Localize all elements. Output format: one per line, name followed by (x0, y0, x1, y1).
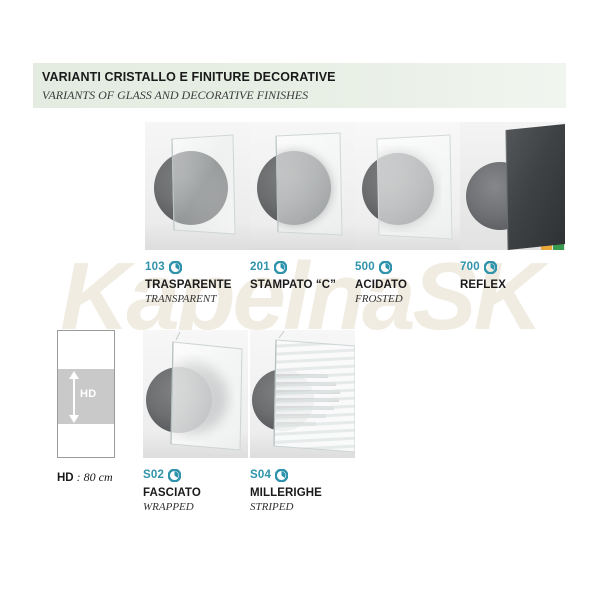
wrapped-glass-sample (143, 330, 248, 458)
frosted-glass-sample (355, 122, 460, 250)
glass-swatch-icon (274, 261, 287, 274)
transparent-glass-sample (145, 122, 250, 250)
finish-name-en: WRAPPED (143, 501, 248, 513)
finish-card-S02[interactable]: S02 FASCIATO WRAPPED (143, 330, 248, 513)
reflex-glass-sample (460, 122, 565, 250)
finish-code: 500 (355, 261, 375, 273)
finish-name-it: FASCIATO (143, 487, 248, 499)
finish-code-row: S04 (250, 467, 355, 483)
finish-name-it: TRASPARENTE (145, 279, 250, 291)
glass-swatch-icon (379, 261, 392, 274)
section-header-band: VARIANTI CRISTALLO E FINITURE DECORATIVE… (33, 63, 566, 108)
finish-code: 103 (145, 261, 165, 273)
finish-name-en: STRIPED (250, 501, 355, 513)
finish-card-500[interactable]: 500 ACIDATO FROSTED (355, 122, 460, 305)
finish-name-en: FROSTED (355, 293, 460, 305)
finish-card-700[interactable]: 700 REFLEX (460, 122, 565, 293)
finish-name-it: MILLERIGHE (250, 487, 355, 499)
glass-swatch-icon (168, 469, 181, 482)
finish-code-row: 201 (250, 259, 355, 275)
hd-caption-sep: : (74, 470, 84, 484)
finish-name-it: REFLEX (460, 279, 565, 291)
finish-code: S04 (250, 469, 271, 481)
printed-c-glass-sample (250, 122, 355, 250)
glass-swatch-icon (275, 469, 288, 482)
glass-swatch-icon (484, 261, 497, 274)
finish-card-103[interactable]: 103 TRASPARENTE TRANSPARENT (145, 122, 250, 305)
finish-code-row: 103 (145, 259, 250, 275)
hd-caption-key: HD (57, 472, 74, 484)
striped-glass-sample (250, 330, 355, 458)
finish-code-row: S02 (143, 467, 248, 483)
hd-caption-value: 80 cm (84, 470, 113, 484)
hd-arrow-icon (67, 371, 81, 423)
hd-diagram-figure: HD (57, 330, 115, 458)
finish-code: S02 (143, 469, 164, 481)
finish-code: 700 (460, 261, 480, 273)
page-subtitle: VARIANTS OF GLASS AND DECORATIVE FINISHE… (42, 88, 308, 103)
glass-swatch-icon (169, 261, 182, 274)
finish-code-row: 700 (460, 259, 565, 275)
finish-name-it: ACIDATO (355, 279, 460, 291)
hd-band-label: HD (80, 388, 97, 400)
finish-name-it: STAMPATO “C” (250, 279, 355, 291)
finish-code-row: 500 (355, 259, 460, 275)
finish-code: 201 (250, 261, 270, 273)
finish-name-en: TRANSPARENT (145, 293, 250, 305)
finish-card-S04[interactable]: S04 MILLERIGHE STRIPED (250, 330, 355, 513)
finish-card-201[interactable]: 201 STAMPATO “C” (250, 122, 355, 293)
page-title: VARIANTI CRISTALLO E FINITURE DECORATIVE (42, 70, 336, 84)
